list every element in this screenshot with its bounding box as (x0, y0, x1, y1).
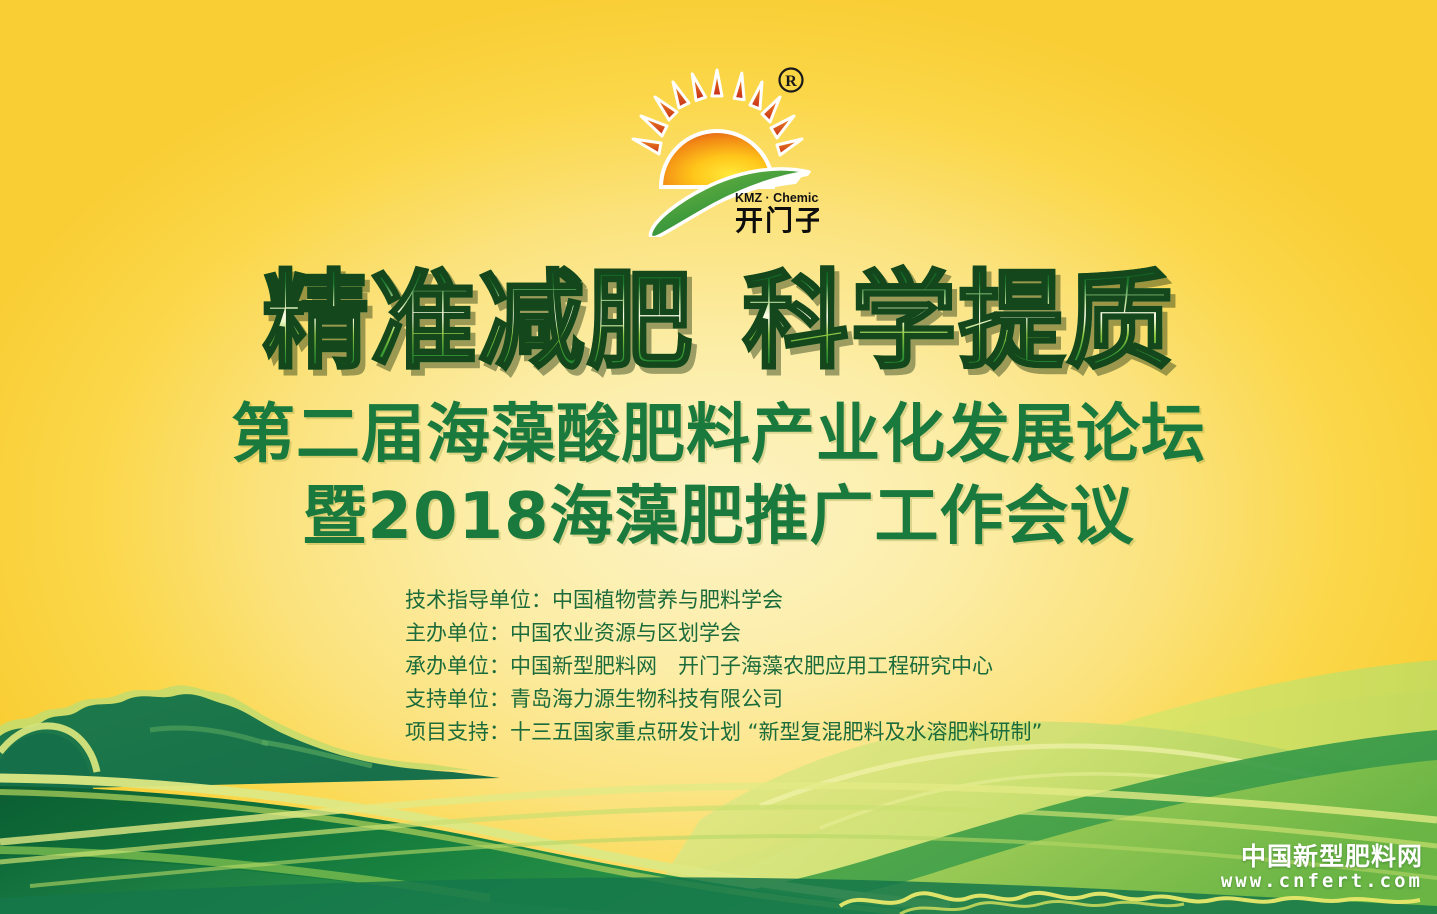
subtitle-wrapper: 第二届海藻酸肥料产业化发展论坛 暨2018海藻肥推广工作会议 (0, 400, 1437, 555)
logo-container: KMZ · Chemical 开门子 R (0, 62, 1437, 237)
logo-chinese-text: 开门子 (735, 204, 819, 237)
svg-text:R: R (785, 73, 797, 90)
watermark-url: www.cnfert.com (1221, 871, 1423, 892)
detail-line-technical-guidance: 技术指导单位：中国植物营养与肥料学会 (405, 584, 1042, 617)
site-watermark: 中国新型肥料网 www.cnfert.com (1221, 843, 1423, 892)
registered-trademark-icon: R (779, 69, 802, 92)
detail-line-host: 主办单位：中国农业资源与区划学会 (405, 617, 1042, 650)
subtitle-line-2: 暨2018海藻肥推广工作会议 (0, 480, 1437, 556)
watermark-site-name: 中国新型肥料网 (1221, 843, 1423, 871)
detail-line-support-unit: 支持单位：青岛海力源生物科技有限公司 (405, 683, 1042, 716)
kmz-chemical-logo: KMZ · Chemical 开门子 R (619, 62, 819, 237)
logo-latin-text: KMZ · Chemical (735, 191, 819, 205)
detail-line-organizer: 承办单位：中国新型肥料网 开门子海藻农肥应用工程研究中心 (405, 650, 1042, 683)
organizer-details-block: 技术指导单位：中国植物营养与肥料学会 主办单位：中国农业资源与区划学会 承办单位… (405, 584, 1042, 749)
subtitle-line-1: 第二届海藻酸肥料产业化发展论坛 (0, 400, 1437, 472)
detail-line-project-support: 项目支持：十三五国家重点研发计划 “新型复混肥料及水溶肥料研制” (405, 716, 1042, 749)
conference-banner: KMZ · Chemical 开门子 R 精准减肥科学提质 第二届海藻酸肥料产业… (0, 0, 1437, 914)
